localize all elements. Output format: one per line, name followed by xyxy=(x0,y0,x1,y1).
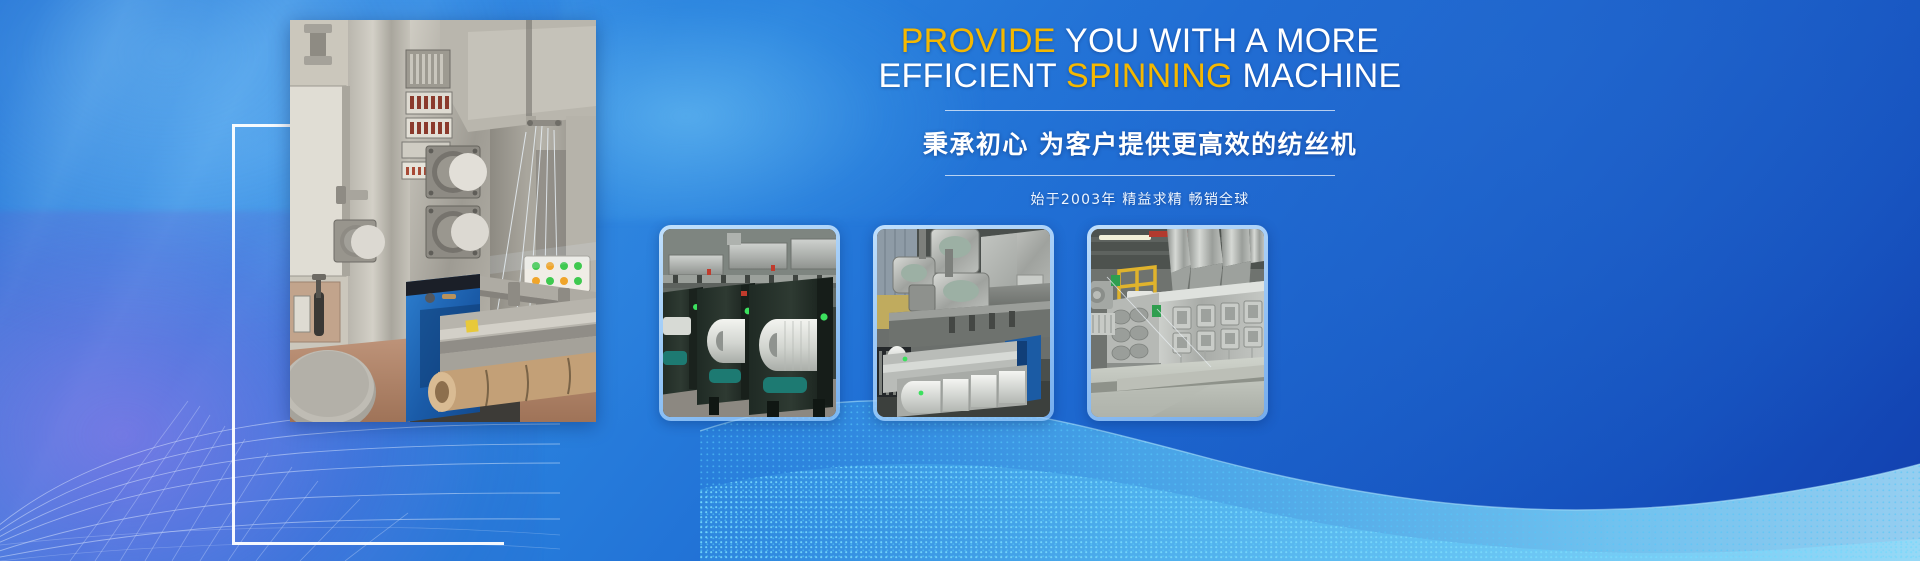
chinese-title: 秉承初心 为客户提供更高效的纺丝机 xyxy=(700,125,1580,161)
headline-line-2: EFFICIENT SPINNING MACHINE xyxy=(700,59,1580,94)
thumbnail-item-3[interactable] xyxy=(1087,225,1268,421)
headline: PROVIDE YOU WITH A MORE EFFICIENT SPINNI… xyxy=(700,24,1580,94)
promo-banner: PROVIDE YOU WITH A MORE EFFICIENT SPINNI… xyxy=(0,0,1920,561)
thumbnail-gallery xyxy=(659,225,1268,421)
headline-line-2-end: MACHINE xyxy=(1233,57,1402,95)
thumbnail-image-1 xyxy=(663,229,836,417)
winding-machines-illustration xyxy=(663,229,836,417)
spinning-line-illustration xyxy=(1091,229,1264,417)
thumbnail-image-2 xyxy=(877,229,1050,417)
overhead-hoods-illustration xyxy=(877,229,1050,417)
banner-copy-block: PROVIDE YOU WITH A MORE EFFICIENT SPINNI… xyxy=(700,24,1580,209)
thumbnail-item-2[interactable] xyxy=(873,225,1054,421)
divider-bottom xyxy=(945,175,1335,176)
headline-accent-provide: PROVIDE xyxy=(901,22,1056,60)
headline-line-1-rest: YOU WITH A MORE xyxy=(1056,22,1379,60)
headline-accent-spinning: SPINNING xyxy=(1066,57,1233,95)
hero-photo-illustration xyxy=(290,20,596,422)
headline-line-2-start: EFFICIENT xyxy=(879,57,1067,95)
divider-top xyxy=(945,110,1335,111)
thumbnail-item-1[interactable] xyxy=(659,225,840,421)
hero-product-photo xyxy=(290,20,596,422)
chinese-subtitle: 始于2003年 精益求精 畅销全球 xyxy=(700,189,1580,209)
headline-line-1: PROVIDE YOU WITH A MORE xyxy=(700,24,1580,59)
thumbnail-image-3 xyxy=(1091,229,1264,417)
